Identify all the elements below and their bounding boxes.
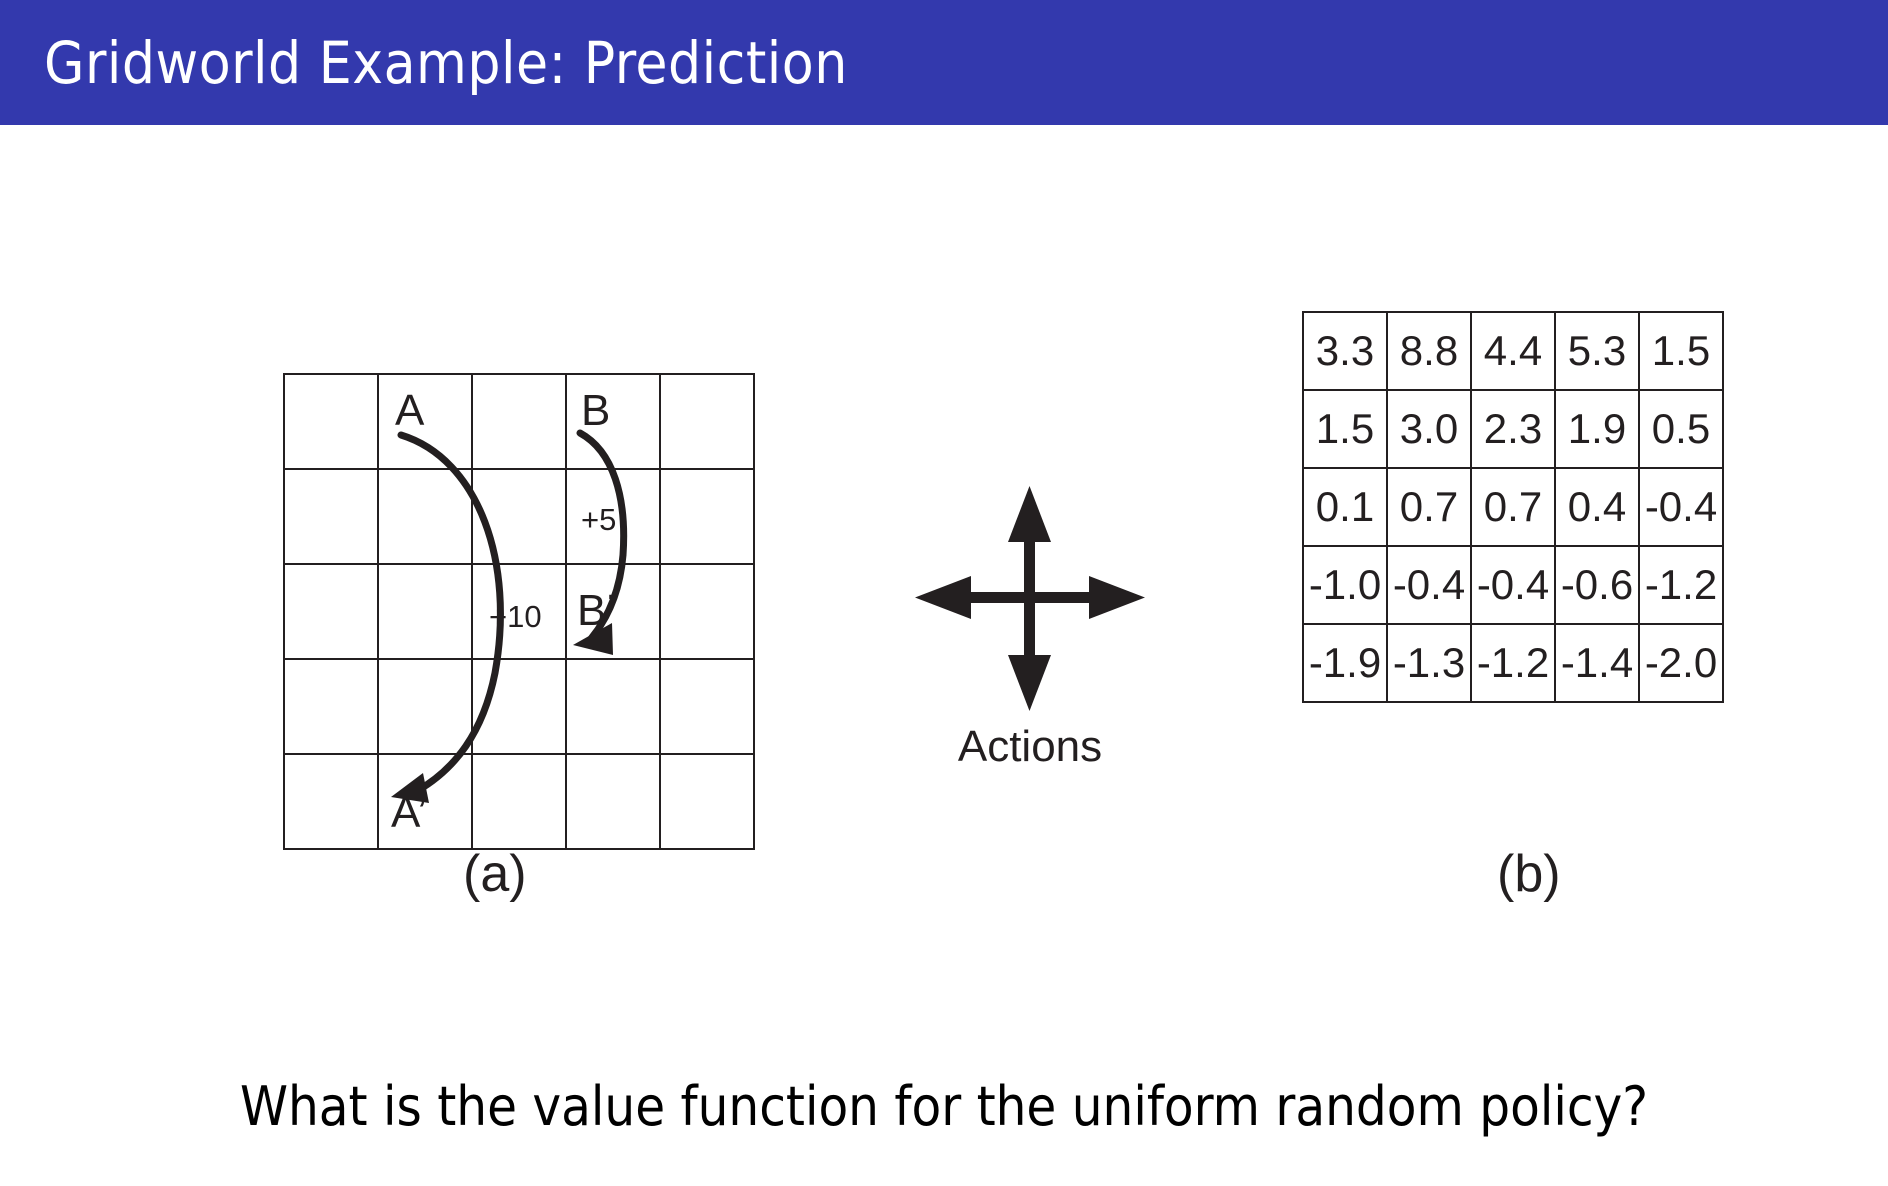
value-cell-r2c4: 1.9: [1555, 390, 1639, 468]
gridworld-cell-r3c1: [284, 564, 378, 659]
value-cell-r5c1: -1.9: [1303, 624, 1387, 702]
value-cell-r2c5: 0.5: [1639, 390, 1723, 468]
actions-diagram: Actions: [905, 480, 1155, 810]
gridworld-diagram: A B +5: [283, 373, 755, 850]
gridworld-cell-r4c4: [566, 659, 660, 754]
value-cell-r3c4: 0.4: [1555, 468, 1639, 546]
gridworld-cell-r3c4: B’: [566, 564, 660, 659]
table-row: -1.9 -1.3 -1.2 -1.4 -2.0: [1303, 624, 1723, 702]
gridworld-cell-r2c3: [472, 469, 566, 564]
value-cell-r1c1: 3.3: [1303, 312, 1387, 390]
gridworld-row: A’: [284, 754, 754, 849]
state-label-b-prime: B’: [577, 589, 616, 633]
gridworld-cell-r5c2: A’: [378, 754, 472, 849]
value-cell-r1c4: 5.3: [1555, 312, 1639, 390]
gridworld-cell-r4c2: [378, 659, 472, 754]
arrow-left-icon: [915, 576, 971, 619]
figure-a-caption: (a): [463, 848, 527, 900]
gridworld-cell-r2c2: [378, 469, 472, 564]
gridworld-row: A B: [284, 374, 754, 469]
arrow-down-icon: [1008, 655, 1051, 711]
value-cell-r2c1: 1.5: [1303, 390, 1387, 468]
actions-label: Actions: [905, 725, 1155, 769]
value-cell-r4c3: -0.4: [1471, 546, 1555, 624]
table-row: 0.1 0.7 0.7 0.4 -0.4: [1303, 468, 1723, 546]
gridworld-cell-r5c5: [660, 754, 754, 849]
arrow-up-icon: [1008, 486, 1051, 542]
gridworld-cell-r1c2: A: [378, 374, 472, 469]
gridworld-cell-r4c5: [660, 659, 754, 754]
gridworld-cell-r3c2: [378, 564, 472, 659]
value-function-grid: 3.3 8.8 4.4 5.3 1.5 1.5 3.0 2.3 1.9 0.5 …: [1302, 311, 1724, 703]
table-row: 3.3 8.8 4.4 5.3 1.5: [1303, 312, 1723, 390]
page-title: Gridworld Example: Prediction: [44, 29, 848, 97]
value-cell-r5c2: -1.3: [1387, 624, 1471, 702]
value-cell-r5c5: -2.0: [1639, 624, 1723, 702]
table-row: -1.0 -0.4 -0.4 -0.6 -1.2: [1303, 546, 1723, 624]
value-cell-r4c5: -1.2: [1639, 546, 1723, 624]
question-text: What is the value function for the unifo…: [0, 1080, 1888, 1134]
value-cell-r4c4: -0.6: [1555, 546, 1639, 624]
value-cell-r2c2: 3.0: [1387, 390, 1471, 468]
gridworld-cell-r5c4: [566, 754, 660, 849]
value-cell-r1c5: 1.5: [1639, 312, 1723, 390]
gridworld-cell-r4c1: [284, 659, 378, 754]
reward-label-plus10: +10: [489, 601, 542, 632]
gridworld-cell-r2c5: [660, 469, 754, 564]
gridworld-row: +10 B’: [284, 564, 754, 659]
slide-content-area: A B +5: [0, 125, 1888, 1186]
value-cell-r2c3: 2.3: [1471, 390, 1555, 468]
value-cell-r5c4: -1.4: [1555, 624, 1639, 702]
gridworld-cell-r2c1: [284, 469, 378, 564]
reward-label-plus5: +5: [581, 504, 616, 535]
state-label-b: B: [581, 389, 610, 433]
gridworld-grid: A B +5: [283, 373, 755, 850]
value-cell-r3c3: 0.7: [1471, 468, 1555, 546]
state-label-a: A: [395, 389, 424, 433]
value-cell-r5c3: -1.2: [1471, 624, 1555, 702]
value-cell-r4c1: -1.0: [1303, 546, 1387, 624]
gridworld-cell-r5c3: [472, 754, 566, 849]
gridworld-cell-r2c4: +5: [566, 469, 660, 564]
table-row: 1.5 3.0 2.3 1.9 0.5: [1303, 390, 1723, 468]
gridworld-cell-r3c5: [660, 564, 754, 659]
gridworld-cell-r5c1: [284, 754, 378, 849]
four-direction-arrows-icon: [905, 480, 1155, 720]
gridworld-cell-r1c5: [660, 374, 754, 469]
value-cell-r3c5: -0.4: [1639, 468, 1723, 546]
gridworld-row: +5: [284, 469, 754, 564]
figure-b-caption: (b): [1497, 848, 1561, 900]
value-cell-r1c2: 8.8: [1387, 312, 1471, 390]
gridworld-cell-r3c3: +10: [472, 564, 566, 659]
gridworld-row: [284, 659, 754, 754]
value-cell-r3c1: 0.1: [1303, 468, 1387, 546]
arrow-right-icon: [1089, 576, 1145, 619]
value-cell-r4c2: -0.4: [1387, 546, 1471, 624]
gridworld-cell-r1c1: [284, 374, 378, 469]
slide-title-bar: Gridworld Example: Prediction: [0, 0, 1888, 125]
state-label-a-prime: A’: [391, 791, 427, 835]
value-cell-r3c2: 0.7: [1387, 468, 1471, 546]
value-cell-r1c3: 4.4: [1471, 312, 1555, 390]
gridworld-cell-r1c4: B: [566, 374, 660, 469]
value-grid-table: 3.3 8.8 4.4 5.3 1.5 1.5 3.0 2.3 1.9 0.5 …: [1302, 311, 1724, 703]
gridworld-cell-r1c3: [472, 374, 566, 469]
gridworld-cell-r4c3: [472, 659, 566, 754]
